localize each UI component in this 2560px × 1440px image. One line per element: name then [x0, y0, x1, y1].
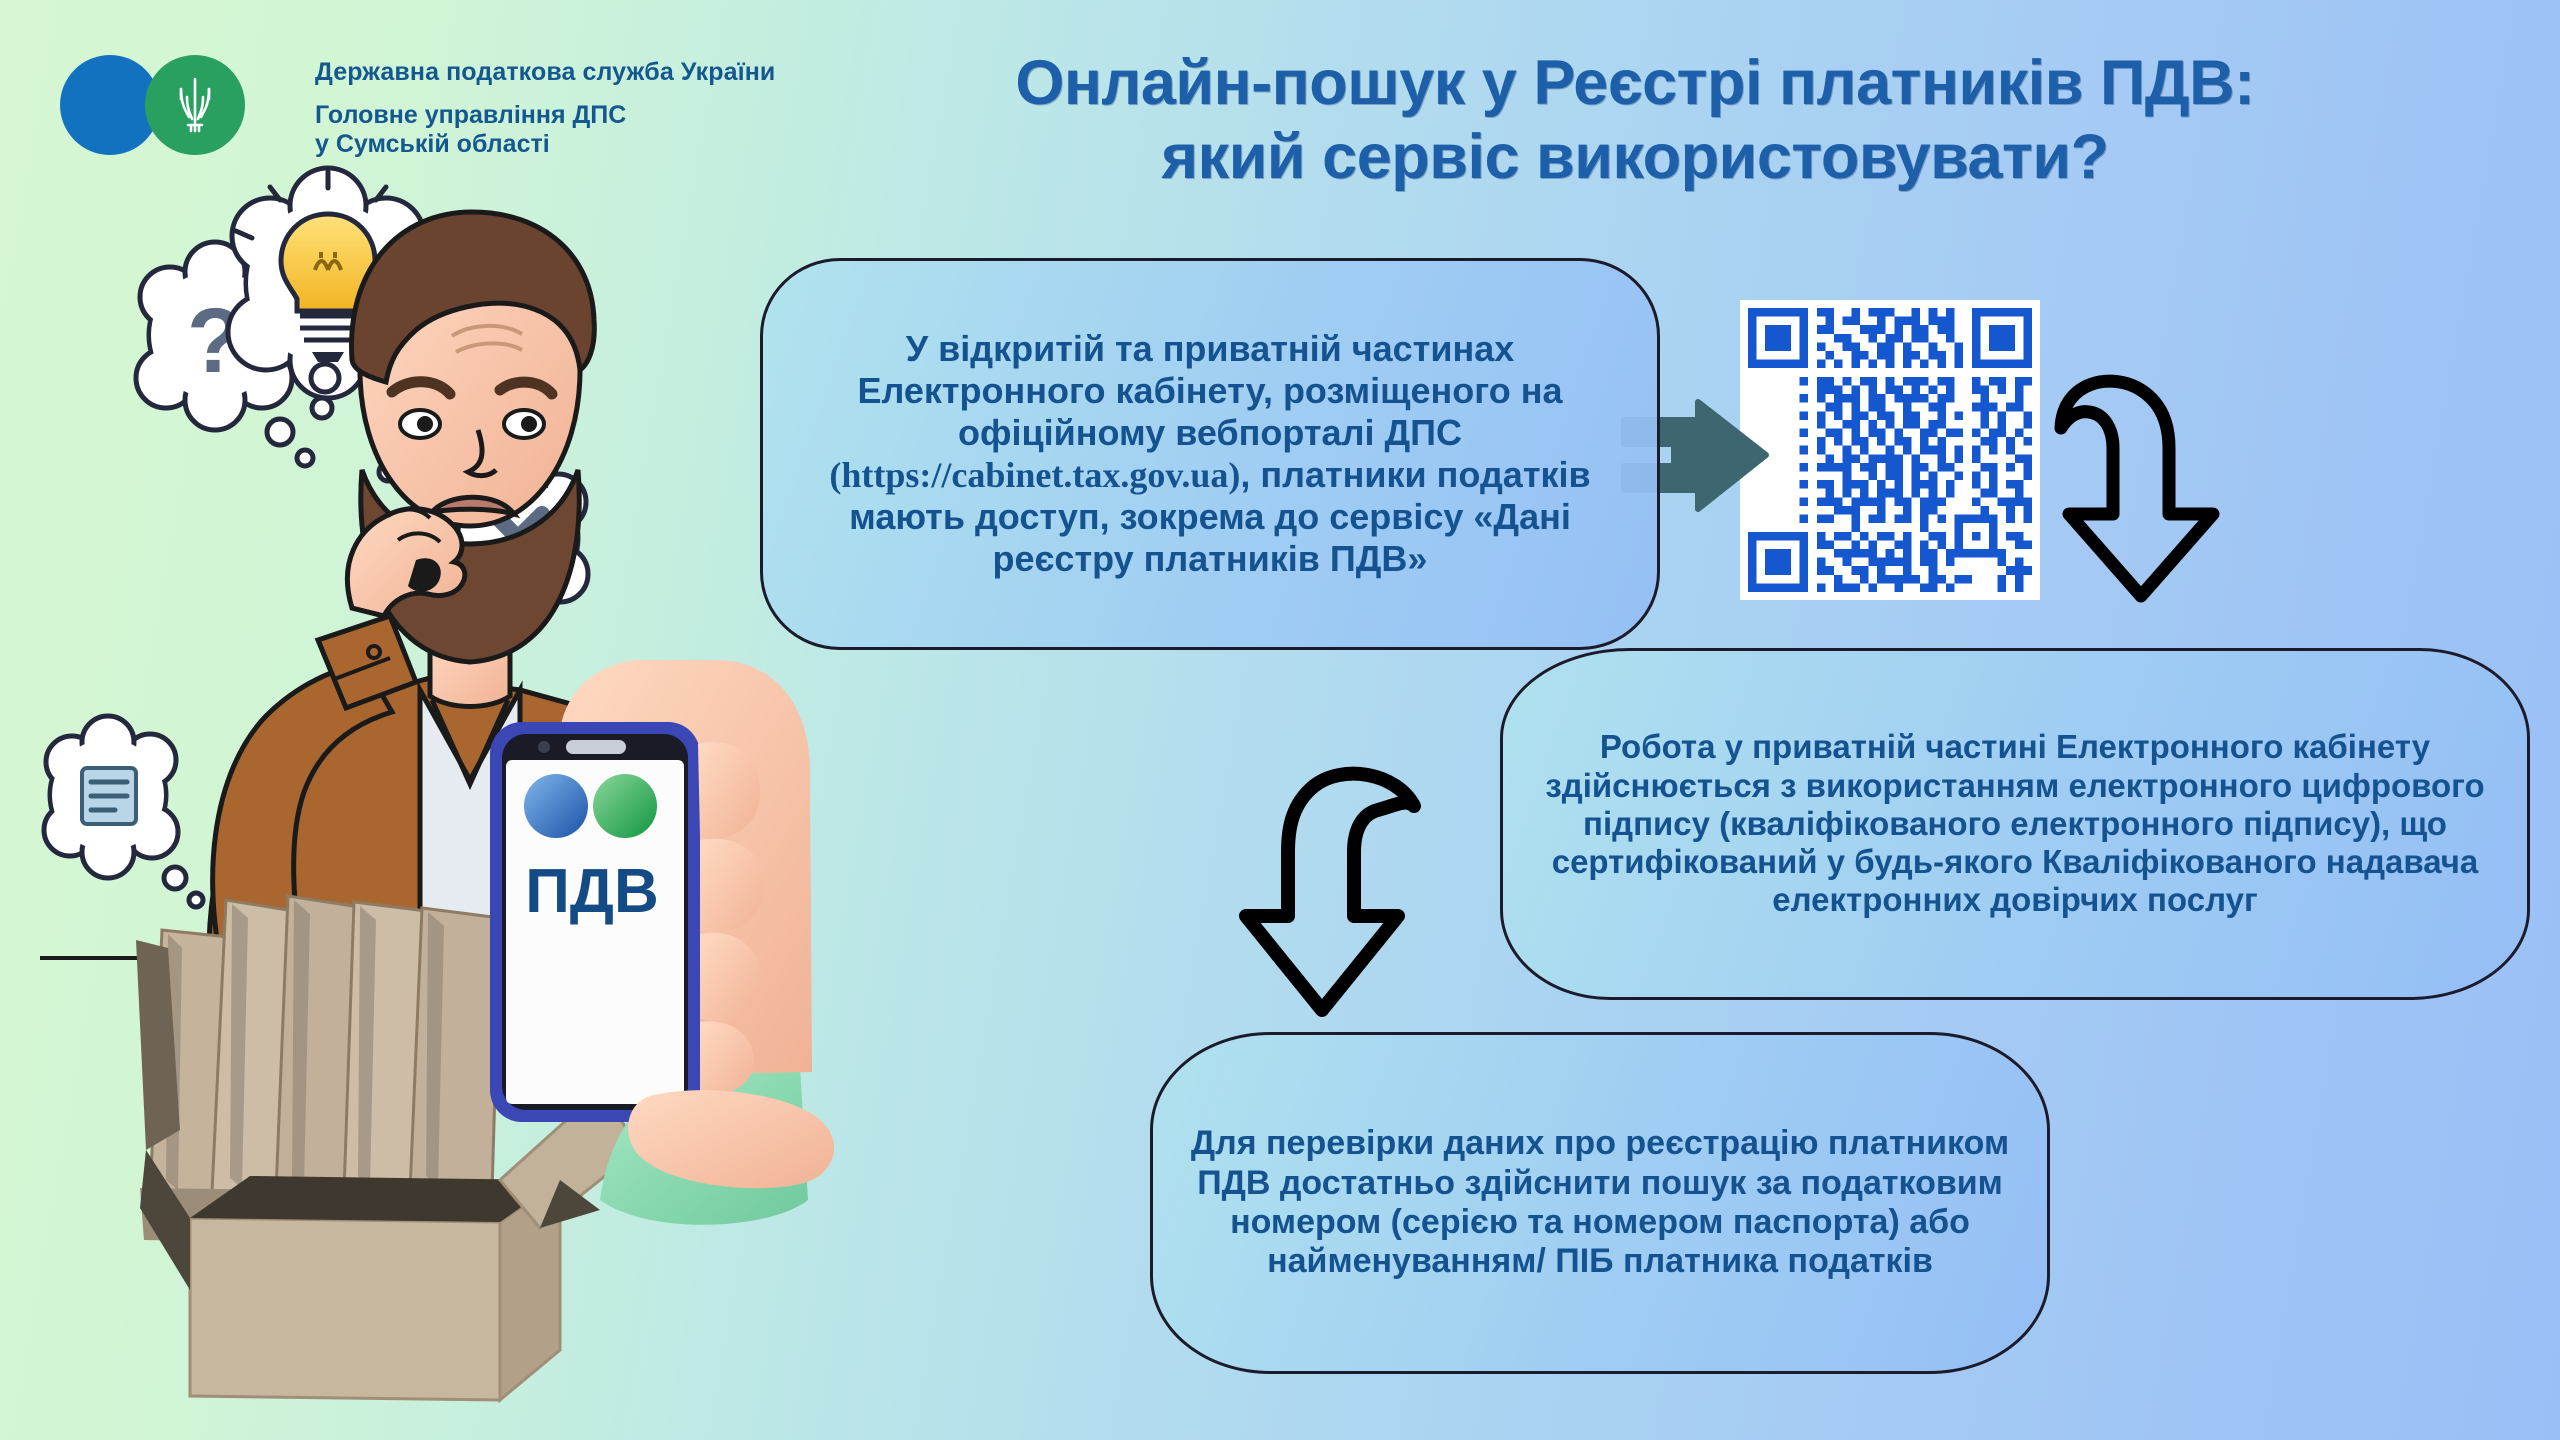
- app-logo-blue-circle-icon: [524, 774, 588, 838]
- page-title-line-1: Онлайн-пошук у Реєстрі платників ПДВ:: [920, 46, 2350, 120]
- app-logo-green-circle-icon: [593, 774, 657, 838]
- bubble2-text: Робота у приватній частині Електронного …: [1533, 728, 2497, 919]
- page-title-line-2: який сервіс використовувати?: [920, 120, 2350, 194]
- phone-camera-icon: [538, 741, 550, 753]
- qr-code-cabinet-tax-gov-ua[interactable]: [1740, 300, 2040, 600]
- bubble1-url[interactable]: (https://cabinet.tax.gov.ua): [829, 455, 1240, 495]
- documents-in-box: [150, 896, 500, 1198]
- phone-screen-label: ПДВ: [525, 857, 659, 926]
- hand-holding-phone: ПДВ: [490, 660, 834, 1225]
- arrow-hook-down-from-qr: [2055, 368, 2260, 603]
- thought-bubble-document: [44, 716, 203, 907]
- page-title: Онлайн-пошук у Реєстрі платників ПДВ: як…: [920, 46, 2350, 195]
- bubble1-text: У відкритій та приватній частинах Електр…: [793, 328, 1627, 580]
- bubble-search-methods: Для перевірки даних про реєстрацію платн…: [1150, 1032, 2050, 1374]
- illustration-confused-man-with-documents: ?: [0, 0, 1120, 1440]
- phone-speaker: [566, 740, 626, 754]
- bubble3-text: Для перевірки даних про реєстрацію платн…: [1183, 1124, 2017, 1282]
- bubble1-text-before-url: У відкритій та приватній частинах Електр…: [857, 328, 1562, 453]
- bubble-open-and-private-parts: У відкритій та приватній частинах Електр…: [760, 258, 1660, 650]
- arrow-hook-down-to-search: [1238, 758, 1463, 1023]
- box-front: [190, 1218, 500, 1400]
- qr-code-graphic: [1748, 308, 2032, 592]
- bubble-digital-signature: Робота у приватній частині Електронного …: [1500, 648, 2530, 1000]
